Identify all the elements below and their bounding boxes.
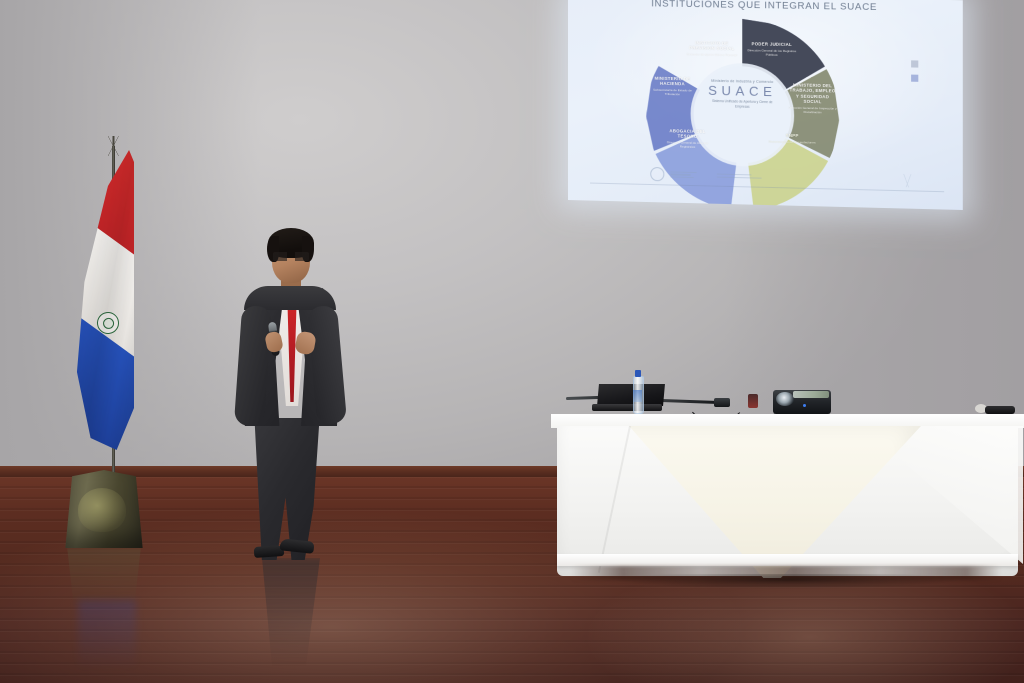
eyeglasses-icon bbox=[273, 252, 309, 261]
segment-label-snpp: SNPP Departamento de Recaudaciones bbox=[768, 132, 817, 144]
video-projector bbox=[773, 390, 831, 414]
bullet-mark-1 bbox=[911, 60, 918, 67]
laptop-screen-lid bbox=[597, 384, 665, 406]
flag-pedestal bbox=[62, 470, 146, 548]
table-floor-shadow bbox=[551, 574, 1024, 594]
pedestal-relief bbox=[78, 488, 126, 532]
projector-lens-icon bbox=[776, 392, 794, 406]
center-subtitle: Sistema Unificado de Apertura y Cierre d… bbox=[694, 98, 791, 110]
projected-slide: INSTITUCIONES QUE INTEGRAN EL SUACE Mini… bbox=[568, 0, 963, 210]
table-item-dark-bar bbox=[985, 406, 1015, 414]
segment-label-mtess: MINISTERIO DEL TRABAJO, EMPLEO Y SEGURID… bbox=[788, 82, 837, 115]
slide-bullet-marks bbox=[911, 60, 918, 89]
segment-label-hacienda: MINISTERIO DE HACIENDA Subsecretaría de … bbox=[648, 76, 696, 98]
presentation-photo-scene: INSTITUCIONES QUE INTEGRAN EL SUACE Mini… bbox=[0, 0, 1024, 683]
footer-signature bbox=[890, 173, 925, 187]
speaker bbox=[228, 228, 348, 558]
water-bottle bbox=[633, 368, 642, 412]
slide-title: INSTITUCIONES QUE INTEGRAN EL SUACE bbox=[568, 0, 963, 14]
laptop bbox=[592, 384, 664, 412]
suace-donut-diagram: Ministerio de Industria y Comercio SUACE… bbox=[646, 17, 839, 167]
segment-label-poder-judicial: PODER JUDICIAL Dirección General de los … bbox=[743, 41, 800, 57]
footer-seal-icon bbox=[650, 167, 664, 181]
footer-contact-lines bbox=[717, 173, 762, 178]
table-cloth-hem bbox=[557, 554, 1018, 566]
segment-label-ips: INSTITUTO DE PREVISION SOCIAL Dirección … bbox=[685, 40, 740, 58]
projector-power-led bbox=[803, 404, 806, 407]
flag-floor-reflection bbox=[78, 600, 136, 670]
bottle-label bbox=[633, 390, 642, 402]
presentation-table bbox=[551, 414, 1024, 590]
segment-label-abogacia: ABOGACIA DEL TESORO Dirección General de… bbox=[662, 128, 713, 150]
speaker-shoe-right bbox=[279, 538, 314, 553]
laptop-base bbox=[592, 404, 662, 411]
bottle-cap bbox=[635, 370, 641, 377]
bullet-mark-2 bbox=[911, 75, 918, 82]
footer-org-lines bbox=[670, 171, 696, 179]
projector-top-panel bbox=[793, 391, 829, 398]
donut-center-text: Ministerio de Industria y Comercio SUACE… bbox=[694, 78, 791, 109]
